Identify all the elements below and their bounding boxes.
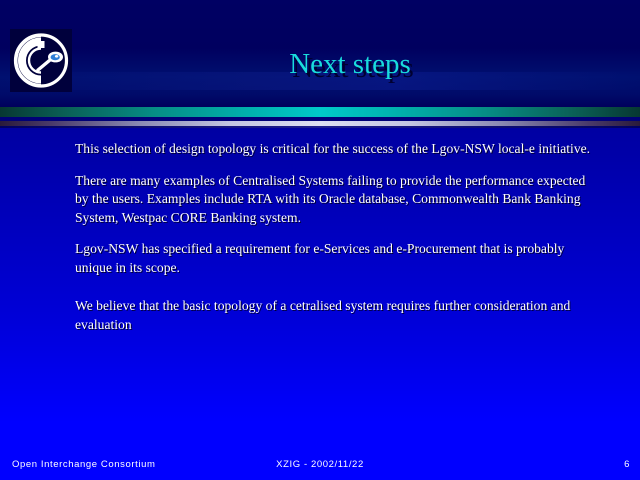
slide-footer: Open Interchange Consortium XZIG - 2002/… xyxy=(0,452,640,480)
presentation-slide: Next steps Next steps This selection of … xyxy=(0,0,640,480)
slide-title: Next steps Next steps xyxy=(90,44,610,90)
body-paragraph-2: There are many examples of Centralised S… xyxy=(75,172,600,228)
footer-event-date: XZIG - 2002/11/22 xyxy=(0,459,640,470)
divider-bar-teal xyxy=(0,107,640,117)
open-interchange-consortium-logo-icon xyxy=(10,29,72,92)
footer-page-number: 6 xyxy=(624,459,630,470)
body-paragraph-3: Lgov-NSW has specified a requirement for… xyxy=(75,240,600,277)
body-paragraph-4: We believe that the basic topology of a … xyxy=(75,297,600,334)
slide-title-text: Next steps xyxy=(90,44,610,84)
body-paragraph-1: This selection of design topology is cri… xyxy=(75,140,600,159)
slide-body: This selection of design topology is cri… xyxy=(75,140,600,347)
divider-bar-edge xyxy=(0,126,640,128)
